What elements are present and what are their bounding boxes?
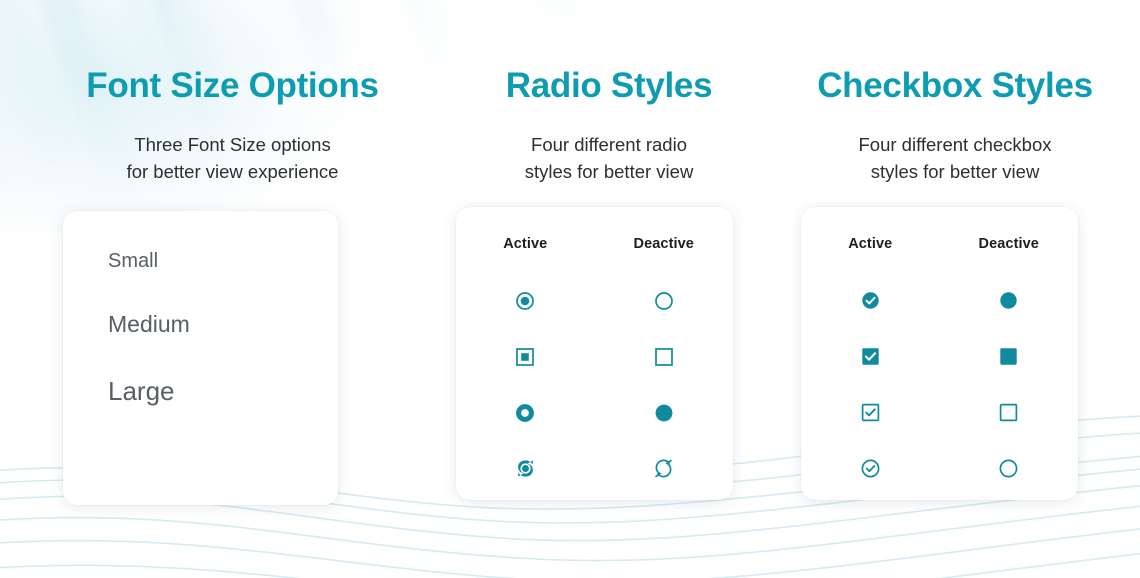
radio-grid-header: Active Deactive — [456, 236, 733, 252]
checkbox-cell-deactive-1[interactable] — [940, 291, 1079, 310]
square-filled-icon[interactable] — [999, 347, 1018, 366]
column-checkbox-styles: Checkbox Styles Four different checkbox … — [793, 0, 1117, 505]
check-square-filled-icon[interactable] — [861, 347, 880, 366]
radio-circle-filled-icon[interactable] — [654, 403, 674, 423]
page-title-checkbox-styles: Checkbox Styles — [793, 0, 1117, 103]
font-size-option-large[interactable]: Large — [108, 378, 338, 404]
radio-ring-thick-icon[interactable] — [515, 403, 535, 423]
radio-square-outline-icon[interactable] — [654, 347, 674, 367]
checkbox-row-4 — [801, 441, 1078, 497]
square-outline-icon[interactable] — [999, 403, 1018, 422]
column-radio-styles: Radio Styles Four different radio styles… — [425, 0, 793, 505]
circle-outline-icon[interactable] — [999, 459, 1018, 478]
card-font-size-options: Small Medium Large — [63, 211, 338, 505]
circle-filled-icon[interactable] — [999, 291, 1018, 310]
checkbox-row-2 — [801, 329, 1078, 385]
checkbox-column-header-active: Active — [801, 236, 940, 252]
checkbox-cell-deactive-4[interactable] — [940, 459, 1079, 478]
radio-cell-active-2[interactable] — [456, 347, 595, 367]
radio-row-3 — [456, 385, 733, 441]
check-circle-filled-icon[interactable] — [861, 291, 880, 310]
column-font-size-options: Font Size Options Three Font Size option… — [40, 0, 425, 505]
radio-swirl-filled-icon[interactable] — [515, 458, 536, 479]
check-circle-outline-icon[interactable] — [861, 459, 880, 478]
column-header-font-size: Font Size Options Three Font Size option… — [40, 0, 425, 186]
radio-column-header-active: Active — [456, 236, 595, 252]
checkbox-cell-active-2[interactable] — [801, 347, 940, 366]
font-size-option-medium[interactable]: Medium — [108, 313, 338, 336]
radio-cell-deactive-2[interactable] — [595, 347, 734, 367]
radio-grid-rows — [456, 273, 733, 497]
checkbox-row-1 — [801, 273, 1078, 329]
card-checkbox-styles: Active Deactive — [801, 207, 1078, 500]
column-header-checkbox: Checkbox Styles Four different checkbox … — [793, 0, 1117, 186]
subtitle-radio-styles: Four different radio styles for better v… — [425, 103, 793, 186]
radio-cell-deactive-3[interactable] — [595, 403, 734, 423]
checkbox-grid-rows — [801, 273, 1078, 497]
checkbox-row-3 — [801, 385, 1078, 441]
page-root: Font Size Options Three Font Size option… — [0, 0, 1140, 578]
checkbox-cell-active-1[interactable] — [801, 291, 940, 310]
subtitle-font-size-options: Three Font Size options for better view … — [40, 103, 425, 186]
radio-circle-outline-icon[interactable] — [654, 291, 674, 311]
subtitle-checkbox-styles: Four different checkbox styles for bette… — [793, 103, 1117, 186]
page-title-radio-styles: Radio Styles — [425, 0, 793, 103]
radio-row-1 — [456, 273, 733, 329]
font-size-option-small[interactable]: Small — [108, 251, 338, 271]
radio-row-2 — [456, 329, 733, 385]
checkbox-cell-active-4[interactable] — [801, 459, 940, 478]
checkbox-cell-deactive-3[interactable] — [940, 403, 1079, 422]
column-header-radio: Radio Styles Four different radio styles… — [425, 0, 793, 186]
radio-column-header-deactive: Deactive — [595, 236, 734, 252]
checkbox-cell-deactive-2[interactable] — [940, 347, 1079, 366]
columns-container: Font Size Options Three Font Size option… — [0, 0, 1140, 505]
radio-cell-active-1[interactable] — [456, 291, 595, 311]
radio-row-4 — [456, 441, 733, 497]
checkbox-cell-active-3[interactable] — [801, 403, 940, 422]
radio-cell-deactive-4[interactable] — [595, 458, 734, 479]
radio-swirl-outline-icon[interactable] — [653, 458, 674, 479]
radio-cell-deactive-1[interactable] — [595, 291, 734, 311]
checkbox-grid-header: Active Deactive — [801, 236, 1078, 252]
radio-cell-active-4[interactable] — [456, 458, 595, 479]
card-radio-styles: Active Deactive — [456, 207, 733, 500]
radio-cell-active-3[interactable] — [456, 403, 595, 423]
radio-square-outline-dot-icon[interactable] — [515, 347, 535, 367]
page-title-font-size-options: Font Size Options — [40, 0, 425, 103]
check-square-outline-icon[interactable] — [861, 403, 880, 422]
checkbox-column-header-deactive: Deactive — [940, 236, 1079, 252]
radio-circle-outline-dot-icon[interactable] — [515, 291, 535, 311]
